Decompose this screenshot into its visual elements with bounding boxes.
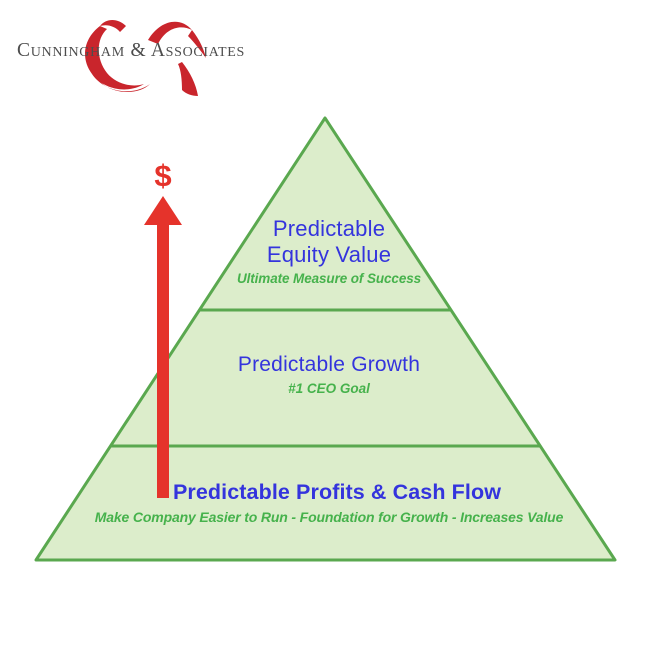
tier-profits-subtitle: Make Company Easier to Run - Foundation … <box>0 509 658 526</box>
tier-profits-title: Predictable Profits & Cash Flow <box>0 480 658 505</box>
tier-equity-value-title-line1: Predictable <box>0 216 658 242</box>
logo-wordmark: Cunningham & Associates <box>17 41 285 61</box>
pyramid-tier-profits-cash-flow: Predictable Profits & Cash Flow Make Com… <box>0 480 658 526</box>
tier-equity-value-subtitle: Ultimate Measure of Success <box>0 271 658 287</box>
tier-growth-subtitle: #1 CEO Goal <box>0 381 658 397</box>
pyramid-tier-growth: Predictable Growth #1 CEO Goal <box>0 353 658 397</box>
company-logo: Cunningham & Associates <box>14 6 284 104</box>
tier-equity-value-title-line2: Equity Value <box>0 242 658 268</box>
tier-growth-title: Predictable Growth <box>0 353 658 378</box>
pyramid-infographic-page: { "logo": { "wordmark": "Cunningham & As… <box>0 0 658 658</box>
value-growth-arrow-group: $ <box>138 160 188 505</box>
dollar-sign-icon: $ <box>138 160 188 191</box>
pyramid-tier-equity-value: Predictable Equity Value Ultimate Measur… <box>0 216 658 287</box>
upward-value-arrow-icon <box>138 192 188 502</box>
